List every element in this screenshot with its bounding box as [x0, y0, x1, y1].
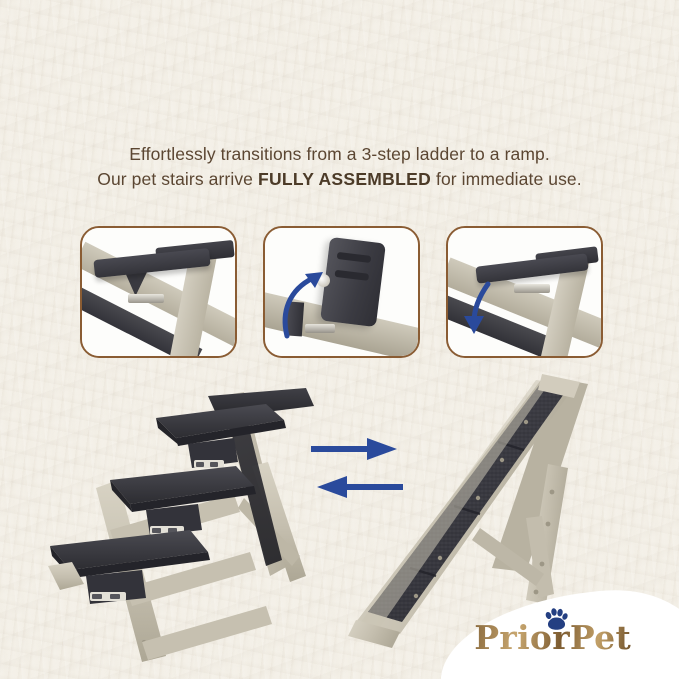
panel-step-folding-down — [446, 226, 603, 358]
main-product-stage: PriorPet — [0, 360, 679, 679]
subtitle-line-1: Effortlessly transitions from a 3-step l… — [0, 142, 679, 167]
headline: 2-IN-1 CONVERTIBLE DESIGN RAMP & STAIRS … — [0, 26, 679, 147]
subtitle-line-2: Our pet stairs arrive FULLY ASSEMBLED fo… — [0, 167, 679, 192]
fully-assembled-emphasis: FULLY ASSEMBLED — [258, 169, 431, 189]
panel-step-platform-closeup — [80, 226, 237, 358]
panel-1-image — [82, 228, 235, 356]
fold-up-arrow-icon — [265, 228, 418, 356]
infographic-root: 2-IN-1 CONVERTIBLE DESIGN RAMP & STAIRS … — [0, 0, 679, 679]
panel-2-image — [265, 228, 418, 356]
panel-step-folded-upright — [263, 226, 420, 358]
headline-line-2: RAMP & STAIRS IN ONE — [10, 104, 669, 147]
fold-down-arrow-icon — [448, 228, 601, 356]
subtitle: Effortlessly transitions from a 3-step l… — [0, 142, 679, 193]
step-hinge — [128, 294, 164, 303]
panel-3-image — [448, 228, 601, 356]
subtitle-line-2-before: Our pet stairs arrive — [97, 169, 258, 189]
pet-stairs-illustration — [38, 370, 338, 670]
step-sequence-panels — [0, 226, 679, 356]
brand-logo-text: PriorPet — [474, 618, 631, 657]
subtitle-line-2-after: for immediate use. — [431, 169, 582, 189]
headline-line-1: 2-IN-1 CONVERTIBLE DESIGN — [10, 26, 669, 101]
stairs-step-top — [156, 388, 314, 468]
